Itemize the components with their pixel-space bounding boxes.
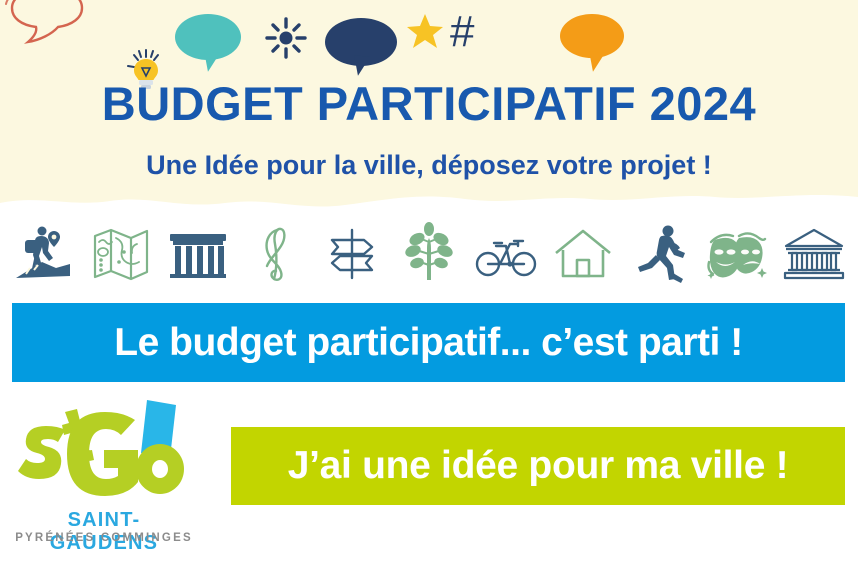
theater-masks-icon [701,218,773,290]
hashtag-icon: # [450,10,474,54]
banner-blue-text: Le budget participatif... c’est parti ! [114,321,742,365]
stgo-logo-mark-icon [8,396,198,514]
page-title: BUDGET PARTICIPATIF 2024 [0,76,858,131]
map-icon [85,218,157,290]
signpost-icon [316,218,388,290]
logo-saint-gaudens[interactable]: SAINT-GAUDENS PYRÉNÉES COMMINGES [8,396,198,556]
museum-icon [778,218,850,290]
logo-tagline: PYRÉNÉES COMMINGES [14,532,194,544]
banner-green-cta[interactable]: J’ai une idée pour ma ville ! [231,427,845,505]
banner-green-text: J’ai une idée pour ma ville ! [288,444,789,488]
speech-bubble-navy-icon [325,18,397,66]
page-subtitle: Une Idée pour la ville, déposez votre pr… [0,150,858,181]
speech-bubble-orange-icon [560,14,624,58]
music-note-icon [239,218,311,290]
monument-icon [162,218,234,290]
runner-icon [624,218,696,290]
wave-divider-icon [0,187,858,215]
star-icon [406,12,444,50]
poster-canvas: # BUDGET PARTICIPATIF 2024 Une Idée pour… [0,0,858,566]
banner-blue[interactable]: Le budget participatif... c’est parti ! [12,303,845,382]
hiker-icon [8,218,80,290]
tree-icon [393,218,465,290]
speech-bubble-sketch-icon [2,0,92,50]
house-icon [547,218,619,290]
speech-bubble-teal-icon [175,14,241,60]
sun-icon [262,14,310,62]
bicycle-icon [470,218,542,290]
category-icon-strip [0,212,858,296]
